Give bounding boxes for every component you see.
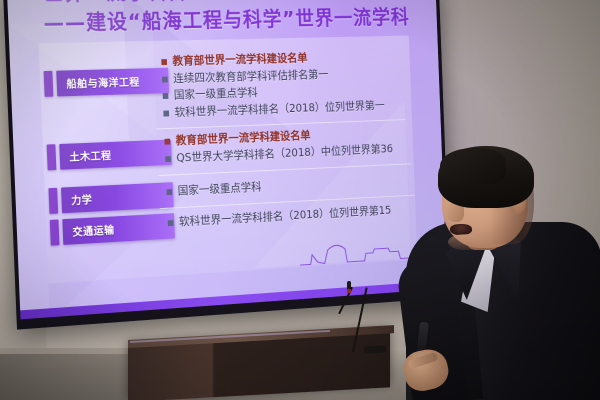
bullet-list-row-1: 教育部世界一流学科建设名单 连续四次教育部学科评估排名第一 国家一级重点学科 — [161, 49, 385, 122]
bullet-list-row-3: 国家一级重点学科 — [166, 180, 262, 202]
hair-front — [440, 148, 506, 184]
bullet-square-icon — [166, 189, 172, 195]
category-label-row-2: 土木工程 — [47, 140, 172, 171]
bullet-text: 教育部世界一流学科建设名单 — [172, 51, 308, 69]
bullet-square-icon — [165, 156, 171, 162]
category-label-text: 船舶与海洋工程 — [66, 74, 140, 91]
bullet-text: 软科世界一流学科排名（2018）位列世界第15 — [179, 203, 392, 229]
category-accent-block — [50, 219, 60, 245]
category-accent-block — [48, 188, 58, 214]
bullet-list-row-4: 软科世界一流学科排名（2018）位列世界第15 — [168, 203, 392, 232]
category-accent-block — [44, 71, 54, 97]
bullet-square-icon — [163, 110, 169, 116]
bullet-item: 国家一级重点学科 — [166, 180, 261, 199]
bullet-square-icon — [162, 76, 168, 82]
category-label-row-4: 交通运输 — [50, 213, 175, 245]
screen-surface: 世界一流学科群 ——建设“船海工程与科学”世界一流学科 船舶与海洋工程 — [7, 0, 447, 319]
bullet-text: 连续四次教育部学科评估排名第一 — [173, 67, 329, 86]
bullet-item: 软科世界一流学科排名（2018）位列世界第15 — [168, 203, 392, 230]
bullet-list-row-2: 教育部世界一流学科建设名单 QS世界大学学科排名（2018）中位列世界第36 — [164, 125, 393, 168]
category-label-text: 交通运输 — [72, 222, 115, 239]
bullet-text: 国家一级重点学科 — [174, 86, 258, 103]
category-bar: 船舶与海洋工程 — [56, 68, 169, 97]
category-bar: 力学 — [61, 182, 174, 213]
bullet-square-icon — [163, 93, 169, 99]
bullet-text: 国家一级重点学科 — [177, 180, 261, 199]
microphone-indicator — [347, 289, 351, 293]
bullet-square-icon — [161, 59, 167, 65]
category-accent-block — [47, 144, 57, 170]
microphone-base — [364, 345, 386, 353]
chin — [448, 234, 482, 250]
slide-content: 世界一流学科群 ——建设“船海工程与科学”世界一流学科 船舶与海洋工程 — [7, 0, 447, 309]
category-label-text: 土木工程 — [69, 147, 112, 164]
bullet-square-icon — [168, 220, 174, 226]
category-label-row-3: 力学 — [48, 182, 173, 214]
category-label-text: 力学 — [71, 192, 93, 208]
speaker — [398, 150, 600, 400]
projection-screen: 世界一流学科群 ——建设“船海工程与科学”世界一流学科 船舶与海洋工程 — [3, 0, 451, 330]
category-bar: 交通运输 — [62, 213, 175, 245]
category-label-row-1: 船舶与海洋工程 — [44, 68, 170, 97]
bullet-square-icon — [164, 139, 170, 145]
presentation-photo: 世界一流学科群 ——建设“船海工程与科学”世界一流学科 船舶与海洋工程 — [0, 0, 600, 400]
category-bar: 土木工程 — [59, 140, 172, 170]
